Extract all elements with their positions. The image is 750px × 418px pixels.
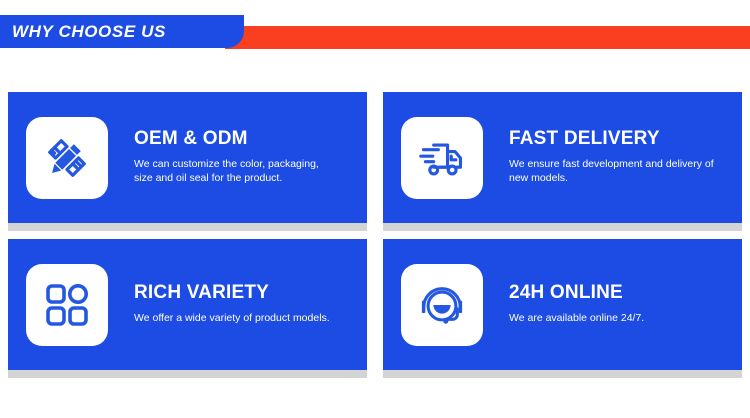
card-title: 24H ONLINE bbox=[509, 283, 732, 304]
header-blue-tab: WHY CHOOSE US bbox=[0, 15, 244, 48]
card-title: RICH VARIETY bbox=[134, 283, 357, 304]
icon-tile bbox=[26, 264, 108, 346]
card-shadow bbox=[383, 370, 742, 378]
card-body[interactable]: RICH VARIETY We offer a wide variety of … bbox=[8, 239, 367, 370]
feature-card-grid: OEM & ODM We can customize the color, pa… bbox=[8, 92, 742, 386]
card-body[interactable]: OEM & ODM We can customize the color, pa… bbox=[8, 92, 367, 223]
card-description: We are available online 24/7. bbox=[509, 311, 714, 325]
icon-tile bbox=[401, 264, 483, 346]
headset-support-icon bbox=[418, 282, 466, 328]
feature-card-fast-delivery[interactable]: FAST DELIVERY We ensure fast development… bbox=[383, 92, 742, 231]
feature-card-rich-variety[interactable]: RICH VARIETY We offer a wide variety of … bbox=[8, 239, 367, 378]
feature-card-oem-odm[interactable]: OEM & ODM We can customize the color, pa… bbox=[8, 92, 367, 231]
delivery-truck-icon bbox=[418, 136, 466, 180]
card-description: We ensure fast development and delivery … bbox=[509, 157, 714, 185]
page-title: WHY CHOOSE US bbox=[0, 22, 166, 42]
grid-variety-icon bbox=[45, 283, 89, 327]
icon-tile bbox=[26, 117, 108, 199]
card-description: We can customize the color, packaging, s… bbox=[134, 157, 339, 185]
feature-card-24h-online[interactable]: 24H ONLINE We are available online 24/7. bbox=[383, 239, 742, 378]
card-text: OEM & ODM We can customize the color, pa… bbox=[108, 129, 367, 185]
section-header: WHY CHOOSE US bbox=[0, 0, 750, 60]
card-title: FAST DELIVERY bbox=[509, 129, 732, 150]
card-shadow bbox=[383, 223, 742, 231]
card-text: RICH VARIETY We offer a wide variety of … bbox=[108, 283, 367, 325]
card-body[interactable]: 24H ONLINE We are available online 24/7. bbox=[383, 239, 742, 370]
pencil-ruler-icon bbox=[44, 135, 90, 181]
header-red-bar bbox=[225, 26, 750, 49]
card-text: 24H ONLINE We are available online 24/7. bbox=[483, 283, 742, 325]
card-text: FAST DELIVERY We ensure fast development… bbox=[483, 129, 742, 185]
card-body[interactable]: FAST DELIVERY We ensure fast development… bbox=[383, 92, 742, 223]
card-shadow bbox=[8, 370, 367, 378]
card-shadow bbox=[8, 223, 367, 231]
why-choose-us-section: WHY CHOOSE US bbox=[0, 0, 750, 418]
icon-tile bbox=[401, 117, 483, 199]
card-description: We offer a wide variety of product model… bbox=[134, 311, 339, 325]
card-title: OEM & ODM bbox=[134, 129, 357, 150]
